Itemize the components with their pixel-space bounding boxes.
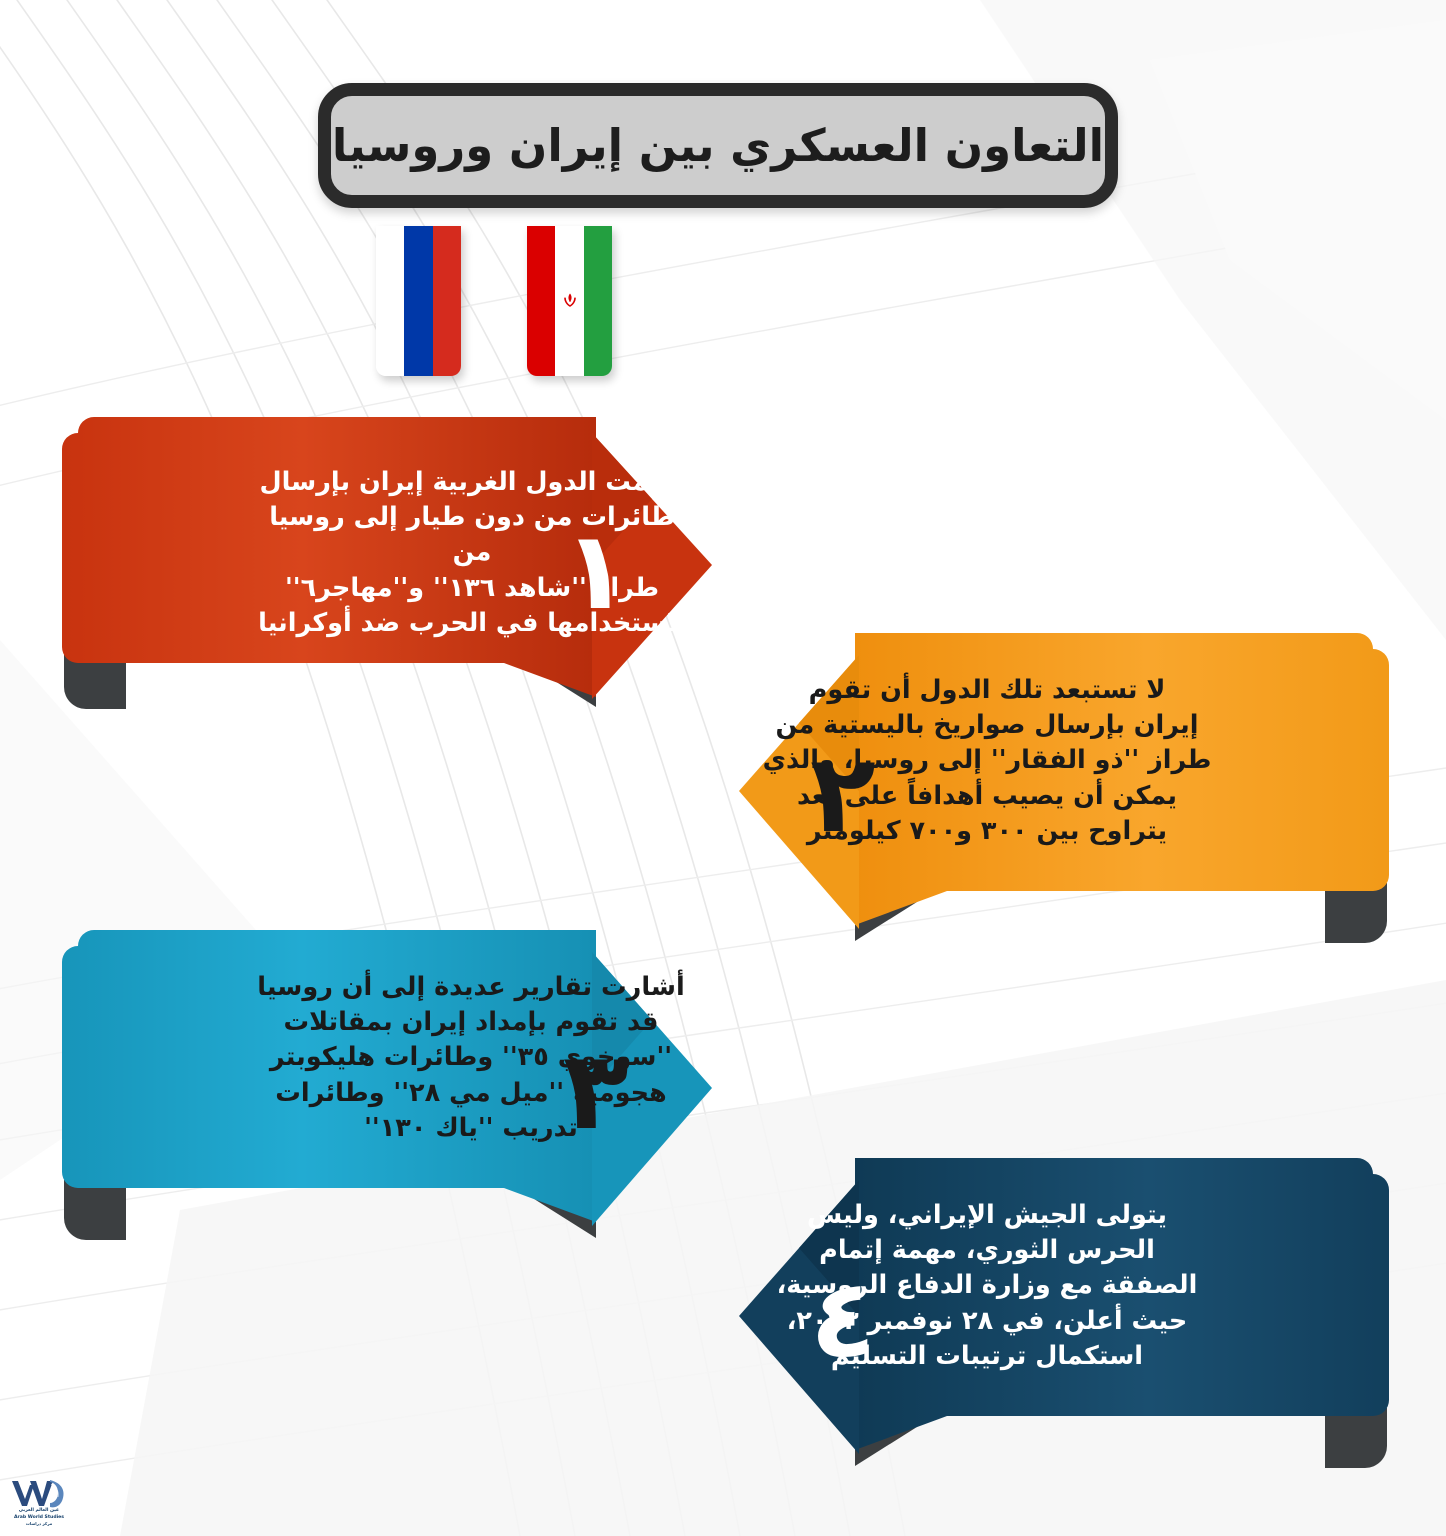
infographic-page: التعاون العسكري بين إيران وروسيا: [0, 0, 1446, 1536]
step-number-4: ٤: [783, 1250, 903, 1390]
step-number-3: ٣: [536, 1022, 656, 1162]
logo-caption-ar: عين العالم العربي: [8, 1508, 70, 1515]
step-banner-2: لا تستبعد تلك الدول أن تقوم إيران بإرسال…: [735, 633, 1395, 963]
iran-flag: [527, 226, 612, 376]
step-banner-3: أشارت تقارير عديدة إلى أن روسيا قد تقوم …: [56, 930, 716, 1260]
logo-monogram-icon: [8, 1477, 70, 1509]
iran-emblem-icon: [560, 291, 580, 311]
step-number-2: ٢: [783, 725, 903, 865]
step-banner-4: يتولى الجيش الإيراني، وليس الحرس الثوري،…: [735, 1158, 1395, 1488]
step-number-1: ١: [536, 502, 656, 642]
page-title: التعاون العسكري بين إيران وروسيا: [318, 120, 1118, 172]
publisher-logo: عين العالم العربي Arab World Studies مرك…: [8, 1477, 70, 1527]
page-title-card: التعاون العسكري بين إيران وروسيا: [318, 83, 1118, 208]
logo-caption-sub: مركز دراسات: [8, 1521, 70, 1527]
russia-flag: [376, 226, 461, 376]
step-banner-1: اتهمت الدول الغربية إيران بإرسال طائرات …: [56, 417, 716, 727]
